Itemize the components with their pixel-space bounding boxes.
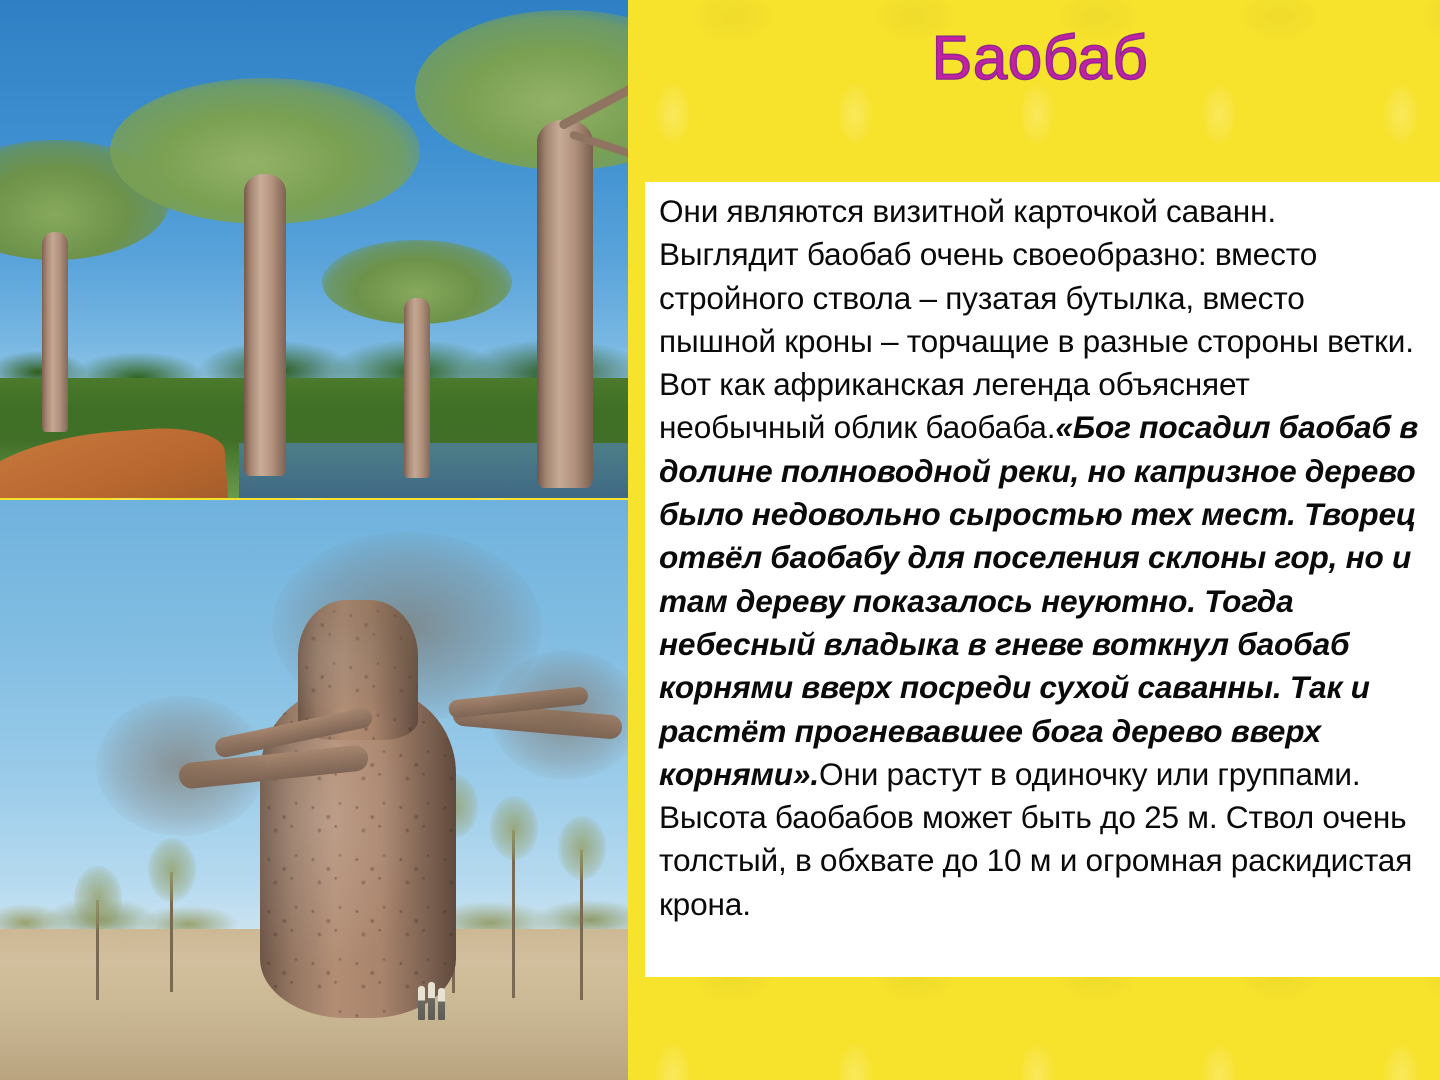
page-title: Баобаб [650,26,1430,91]
trunk [404,298,430,478]
background-tree [512,830,515,998]
person-for-scale [438,988,445,1020]
photo-giant-bottle-baobab [0,500,628,1080]
trunk [537,120,593,488]
trunk [42,232,68,432]
body-paragraph: Они являются визитной карточкой саванн. … [659,190,1422,926]
legend-quote: «Бог посадил баобаб в долине полноводной… [659,409,1418,791]
baobab-crown-twigs-right [490,650,628,780]
person-for-scale [418,986,425,1020]
background-tree [170,872,173,992]
photo-avenue-of-the-baobabs [0,0,628,498]
content-textbox: Они являются визитной карточкой саванн. … [645,182,1440,977]
person-for-scale [428,982,435,1020]
background-tree [580,850,583,1000]
avenue-scene [0,0,628,498]
background-tree [96,900,99,1000]
baobab-tree-right [430,10,628,480]
photo-column [0,0,628,1080]
presentation-slide: Баобаб Они являются визитной карточкой с… [0,0,1440,1080]
trunk [244,174,286,476]
paragraph-1: Они являются визитной карточкой саванн. … [659,193,1414,445]
bottle-baobab-scene [0,500,628,1080]
baobab-crown-twigs-left [96,696,266,836]
